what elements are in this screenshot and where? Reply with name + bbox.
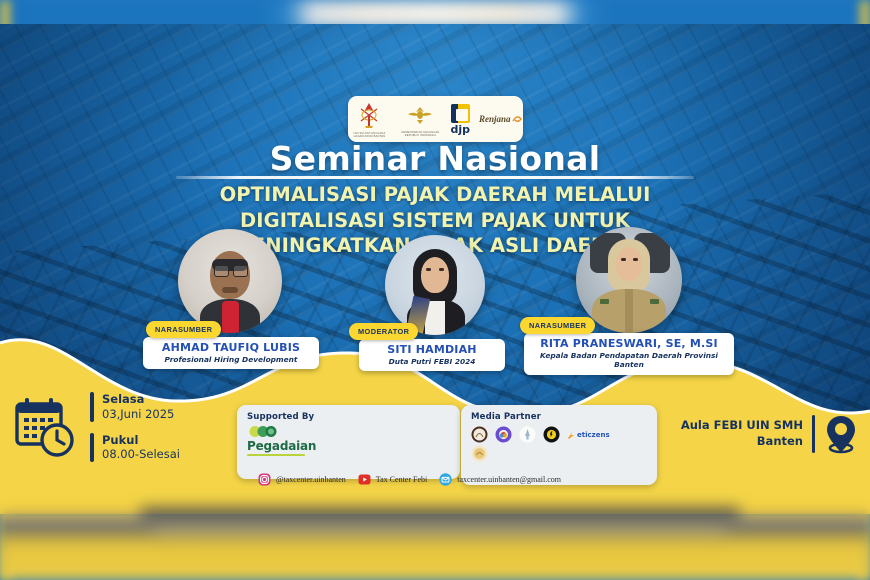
youtube-icon [358,473,371,486]
renjana-logo-label: Renjana [479,114,511,124]
social-links-row: @taxcenter.uinbanten Tax Center Febi tax… [258,473,648,486]
speaker-3-badge: NARASUMBER [520,317,595,334]
venue-text: Aula FEBI UIN SMH Banten [681,418,803,449]
uin-logo-caption: UIN SULTAN MAULANA HASANUDDIN BANTEN [348,133,390,139]
speaker-1-photo [178,229,282,333]
tirtayasa-crest-icon [356,100,382,132]
speaker-1-badge: NARASUMBER [146,321,221,338]
date-value: 03,Juni 2025 [102,407,174,422]
djp-logo: djp [450,104,470,135]
social-instagram[interactable]: @taxcenter.uinbanten [258,473,346,486]
blurred-bottom-band [0,508,870,580]
eticzens-mark-icon [567,430,575,440]
social-email[interactable]: taxcenter.uinbanten@gmail.com [439,473,561,486]
speaker-2-photo [385,235,485,335]
email-handle: taxcenter.uinbanten@gmail.com [457,475,561,484]
venue-line-2: Banten [681,434,803,450]
speaker-2-name: SITI HAMDIAH [367,343,497,356]
speaker-3-namecard: RITA PRANESWARI, SE, M.SI Kepala Badan P… [524,333,734,375]
pegadaian-mark-icon [247,425,281,438]
time-label: Pukul [102,433,180,447]
venue-line-1: Aula FEBI UIN SMH [681,418,803,434]
location-pin-icon [824,414,858,454]
pegadaian-underline [247,454,305,456]
venue-divider [812,415,815,453]
supported-by-panel: Supported By Pegadaian [237,405,460,479]
speaker-1-namecard: AHMAD TAUFIQ LUBIS Profesional Hiring De… [143,337,319,369]
date-label: Selasa [102,392,174,406]
instagram-icon [258,473,271,486]
djp-mark-icon [451,104,470,123]
speaker-card-2: MODERATOR SITI HAMDIAH Duta Putri FEBI 2… [385,235,485,335]
eticzens-label: eticzens [577,431,610,439]
renjana-swirl-icon [511,113,523,125]
youtube-handle: Tax Center Febi [376,475,427,484]
calendar-clock-icon [14,396,80,458]
media-partner-logo-row: eticzens [471,426,647,443]
venue-block: Aula FEBI UIN SMH Banten [681,414,858,454]
partner-logo-2-icon [495,426,512,443]
pegadaian-label: Pegadaian [247,439,450,453]
seminar-poster: UIN SULTAN MAULANA HASANUDDIN BANTEN KEM… [0,0,870,580]
speaker-2-namecard: SITI HAMDIAH Duta Putri FEBI 2024 [359,339,505,371]
organizer-logo-strip: UIN SULTAN MAULANA HASANUDDIN BANTEN KEM… [348,96,523,142]
speaker-3-name: RITA PRANESWARI, SE, M.SI [532,337,726,350]
partner-logo-5-icon [471,445,488,462]
djp-logo-label: djp [450,124,470,135]
uin-sultan-maulana-hasanuddin-banten-logo: UIN SULTAN MAULANA HASANUDDIN BANTEN [348,100,390,139]
media-partner-title: Media Partner [471,412,647,422]
speaker-3-role: Kepala Badan Pendapatan Daerah Provinsi … [532,351,726,370]
speaker-card-1: NARASUMBER AHMAD TAUFIQ LUBIS Profesiona… [178,229,282,333]
media-partner-logo-row-2 [471,445,647,462]
time-row: Pukul 08.00-Selesai [90,433,180,462]
email-icon [439,473,452,486]
speaker-1-role: Profesional Hiring Development [151,355,311,364]
social-youtube[interactable]: Tax Center Febi [358,473,427,486]
page-title: Seminar Nasional [0,139,870,178]
speaker-2-badge: MODERATOR [349,323,418,340]
kemenkeu-logo-caption: KEMENTERIAN KEUANGAN REPUBLIK INDONESIA [399,132,441,138]
supported-by-title: Supported By [247,412,450,422]
partner-logo-1-icon [471,426,488,443]
poster-canvas: UIN SULTAN MAULANA HASANUDDIN BANTEN KEM… [0,24,870,514]
time-value: 08.00-Selesai [102,447,180,462]
pegadaian-logo: Pegadaian [247,425,450,456]
partner-logo-3-icon [519,426,536,443]
speaker-2-role: Duta Putri FEBI 2024 [367,357,497,366]
speaker-3-photo [576,227,682,333]
speaker-card-3: NARASUMBER RITA PRANESWARI, SE, M.SI Kep… [576,227,682,333]
schedule-block: Selasa 03,Juni 2025 Pukul 08.00-Selesai [14,392,229,462]
date-row: Selasa 03,Juni 2025 [90,392,180,421]
kementerian-keuangan-logo: KEMENTERIAN KEUANGAN REPUBLIK INDONESIA [399,101,441,138]
partner-logo-4-icon [543,426,560,443]
garuda-icon [405,101,435,131]
renjana-logo: Renjana [479,113,523,125]
speaker-1-name: AHMAD TAUFIQ LUBIS [151,341,311,354]
title-divider [176,176,694,179]
instagram-handle: @taxcenter.uinbanten [276,475,346,484]
